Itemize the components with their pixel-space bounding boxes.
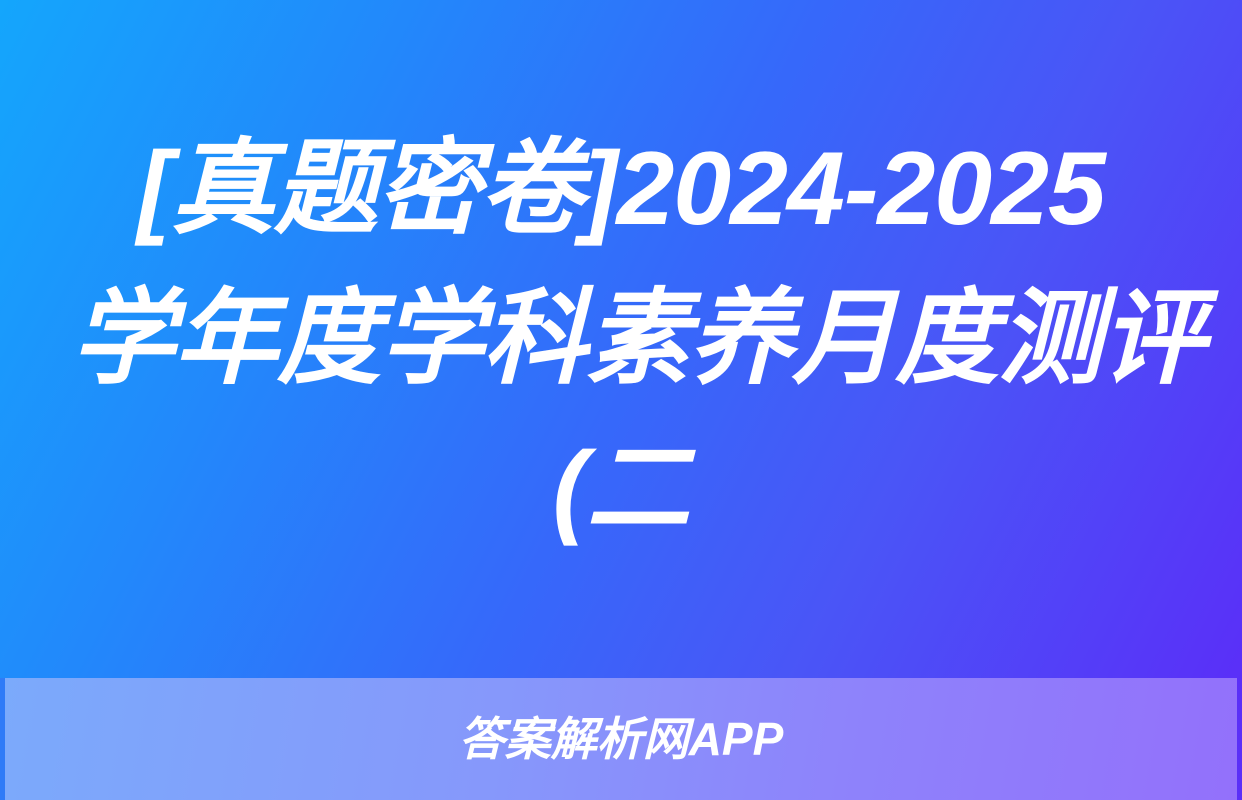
title-line-2: 学年度学科素养月度测评 xyxy=(71,264,1171,414)
title-line-3: (二 xyxy=(71,414,1171,564)
exam-cover-banner: [真题密卷]2024-2025 学年度学科素养月度测评 (二 答案解析网APP xyxy=(0,0,1242,800)
hero-content: [真题密卷]2024-2025 学年度学科素养月度测评 (二 xyxy=(0,0,1242,678)
footer-band: 答案解析网APP xyxy=(0,678,1242,800)
page-title: [真题密卷]2024-2025 学年度学科素养月度测评 (二 xyxy=(71,114,1171,564)
title-line-1: [真题密卷]2024-2025 xyxy=(71,114,1171,264)
footer-content: 答案解析网APP xyxy=(0,678,1242,800)
footer-watermark-label: 答案解析网APP xyxy=(459,713,784,765)
